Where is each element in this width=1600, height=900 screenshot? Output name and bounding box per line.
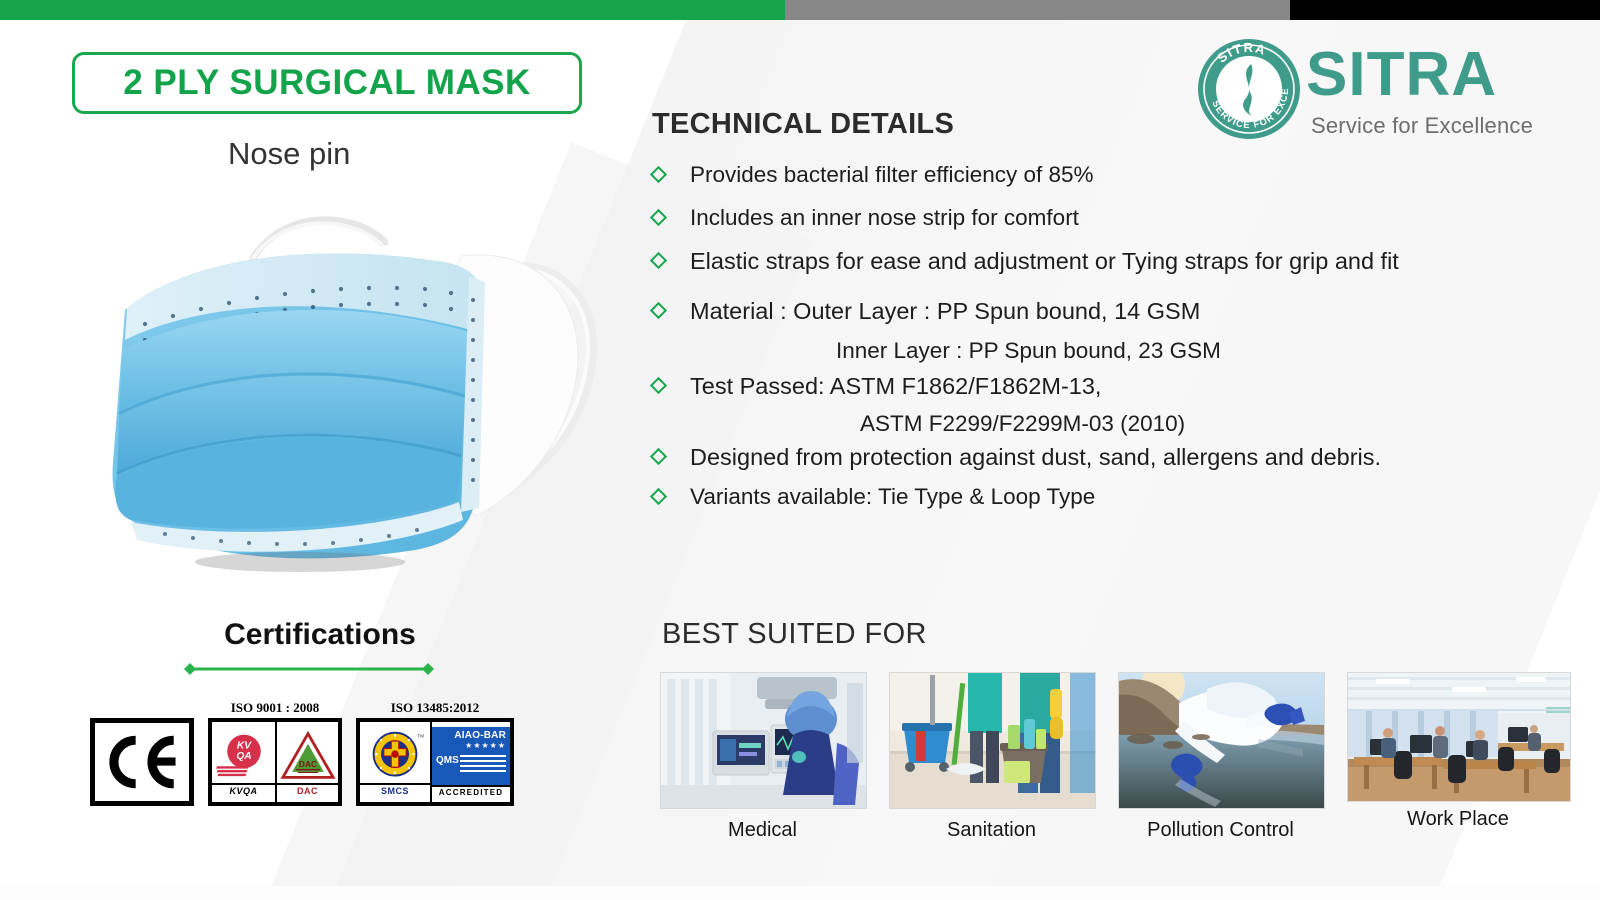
ce-mark-icon <box>90 718 194 806</box>
kvqa-label: KVQA <box>212 783 275 796</box>
technical-item: Material : Outer Layer : PP Spun bound, … <box>650 300 1550 324</box>
kvqa-mark-icon: KV QA KVQA <box>212 722 275 802</box>
top-color-bar <box>0 0 1600 20</box>
technical-details-heading: TECHNICAL DETAILS <box>652 108 954 141</box>
certifications-divider <box>180 663 438 675</box>
diamond-bullet-icon <box>650 164 690 188</box>
dac-label: DAC <box>277 783 338 796</box>
top-bar-segment-green <box>0 0 785 20</box>
top-bar-segment-gray <box>785 0 1290 20</box>
technical-subitem-astm: ASTM F2299/F2299M-03 (2010) <box>860 413 1550 436</box>
smcs-mark-icon: TM SMCS <box>360 722 430 802</box>
technical-item: Provides bacterial filter efficiency of … <box>650 164 1550 188</box>
technical-item: Designed from protection against dust, s… <box>650 446 1550 470</box>
certification-iso-9001: ISO 9001 : 2008 KV QA KVQA <box>208 700 342 806</box>
best-suited-label: Pollution Control <box>1118 819 1323 842</box>
iso-13485-logo: TM SMCS AIAO-BAR ★★★★★ QMS <box>356 718 514 806</box>
diamond-bullet-icon <box>650 207 690 231</box>
product-title: 2 PLY SURGICAL MASK <box>123 63 531 103</box>
sitra-seal-icon: SITRA SERVICE FOR EXCELLENCE <box>1194 36 1304 142</box>
surgical-mask-image <box>85 190 645 600</box>
sanitation-thumbnail <box>889 672 1096 809</box>
product-title-box: 2 PLY SURGICAL MASK <box>72 52 582 114</box>
qms-text: QMS <box>436 755 459 766</box>
technical-item: Includes an inner nose strip for comfort <box>650 207 1550 231</box>
certification-logos: ISO 9001 : 2008 KV QA KVQA <box>90 700 560 806</box>
work-place-thumbnail <box>1347 672 1571 802</box>
medical-thumbnail <box>660 672 867 809</box>
best-suited-item-pollution-control: Pollution Control <box>1118 672 1323 842</box>
iso-9001-logo: KV QA KVQA DAC <box>208 718 342 806</box>
technical-item: Elastic straps for ease and adjustment o… <box>650 250 1550 274</box>
diamond-bullet-icon <box>650 375 690 399</box>
certification-iso-13485: ISO 13485:2012 <box>356 700 514 806</box>
top-bar-segment-black <box>1290 0 1600 20</box>
diamond-bullet-icon <box>650 300 690 324</box>
dac-mark-icon: DAC DAC <box>275 722 338 802</box>
best-suited-list: Medical <box>660 672 1600 842</box>
diamond-bullet-icon <box>650 250 690 274</box>
svg-text:QA: QA <box>236 750 251 761</box>
accredited-label: ACCREDITED <box>432 785 510 797</box>
technical-item-text: Material : Outer Layer : PP Spun bound, … <box>690 300 1200 324</box>
certification-caption: ISO 9001 : 2008 <box>208 700 342 716</box>
certifications-heading: Certifications <box>0 618 640 652</box>
best-suited-label: Work Place <box>1347 808 1569 831</box>
technical-item: Variants available: Tie Type & Loop Type <box>650 486 1550 510</box>
best-suited-item-work-place: Work Place <box>1347 672 1569 831</box>
technical-details-list: Provides bacterial filter efficiency of … <box>650 164 1550 510</box>
slide-canvas: 2 PLY SURGICAL MASK Nose pin <box>0 0 1600 900</box>
svg-text:DAC: DAC <box>298 759 316 769</box>
technical-subitem-inner-layer: Inner Layer : PP Spun bound, 23 GSM <box>836 340 1550 363</box>
technical-item-text: Elastic straps for ease and adjustment o… <box>690 250 1399 274</box>
aiao-bar-text: AIAO-BAR <box>436 730 506 741</box>
sitra-tagline: Service for Excellence <box>1311 113 1533 139</box>
aiao-stars-icon: ★★★★★ <box>436 741 506 750</box>
pollution-control-thumbnail <box>1118 672 1325 809</box>
background-bottom-band <box>0 886 1600 900</box>
technical-item-text: Variants available: Tie Type & Loop Type <box>690 486 1095 509</box>
technical-item-text: Provides bacterial filter efficiency of … <box>690 164 1094 187</box>
best-suited-item-sanitation: Sanitation <box>889 672 1094 842</box>
certification-caption: ISO 13485:2012 <box>356 700 514 716</box>
aiao-bar-mark-icon: AIAO-BAR ★★★★★ QMS ACCREDITED <box>430 722 510 802</box>
technical-item-text: Designed from protection against dust, s… <box>690 446 1381 470</box>
certification-ce <box>90 716 194 806</box>
best-suited-item-medical: Medical <box>660 672 865 842</box>
technical-item-text: Test Passed: ASTM F1862/F1862M-13, <box>690 375 1101 399</box>
diamond-bullet-icon <box>650 486 690 510</box>
best-suited-label: Medical <box>660 819 865 842</box>
technical-item-text: Includes an inner nose strip for comfort <box>690 207 1079 230</box>
technical-item: Test Passed: ASTM F1862/F1862M-13, <box>650 375 1550 399</box>
smcs-label: SMCS <box>360 783 430 796</box>
nose-pin-label: Nose pin <box>228 136 350 172</box>
best-suited-label: Sanitation <box>889 819 1094 842</box>
best-suited-heading: BEST SUITED FOR <box>662 618 927 651</box>
sitra-wordmark: SITRA <box>1306 44 1497 106</box>
diamond-bullet-icon <box>650 446 690 470</box>
svg-text:TM: TM <box>417 733 424 738</box>
